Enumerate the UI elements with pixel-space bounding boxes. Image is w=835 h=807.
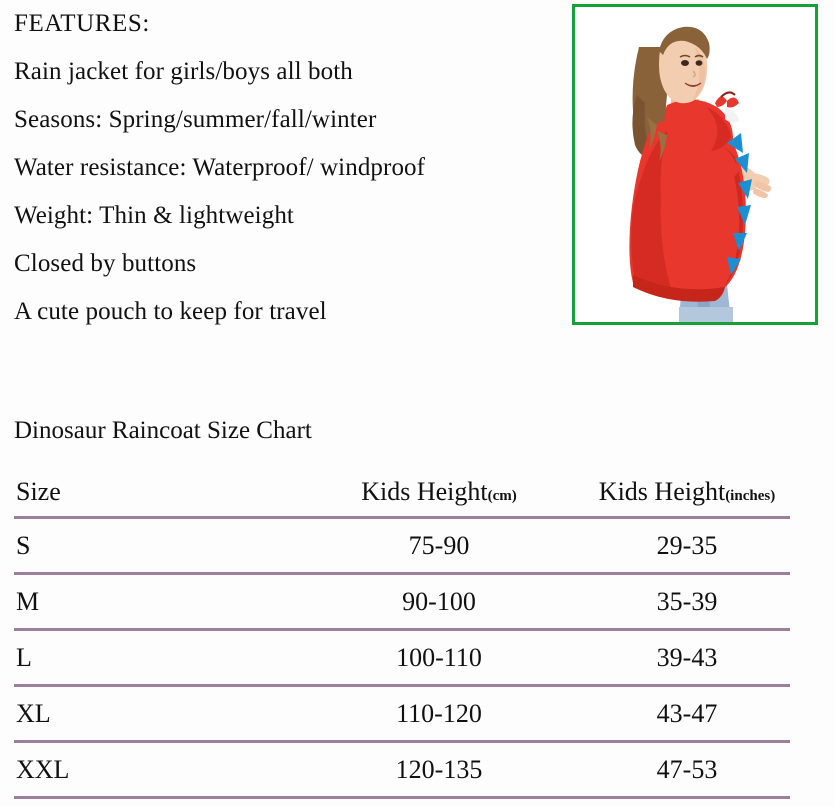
- cell-size: M: [14, 575, 294, 628]
- features-block: FEATURES: Rain jacket for girls/boys all…: [14, 0, 559, 336]
- table-bottom-rule: [14, 796, 790, 799]
- cell-height-inches: 43-47: [584, 687, 790, 740]
- cell-height-inches: 47-53: [584, 743, 790, 796]
- raincoat-model-illustration: [575, 7, 815, 322]
- feature-item-4: Weight: Thin & lightweight: [14, 192, 559, 240]
- feature-item-2: Seasons: Spring/summer/fall/winter: [14, 96, 559, 144]
- cell-height-inches: 35-39: [584, 575, 790, 628]
- table-row: L 100-110 39-43: [14, 631, 790, 684]
- table-row: M 90-100 35-39: [14, 575, 790, 628]
- cell-height-inches: 39-43: [584, 631, 790, 684]
- cell-height-cm: 75-90: [294, 519, 584, 572]
- cell-size: XXL: [14, 743, 294, 796]
- table-bottom-rule-cell: [14, 796, 790, 799]
- size-chart-section: Dinosaur Raincoat Size Chart Size Kids H…: [14, 414, 804, 799]
- column-header-size: Size: [14, 468, 294, 516]
- cell-height-inches: 29-35: [584, 519, 790, 572]
- size-chart-table: Size Kids Height(cm) Kids Height(inches)…: [14, 468, 790, 799]
- cell-size: S: [14, 519, 294, 572]
- features-heading: FEATURES:: [14, 0, 559, 48]
- cell-size: XL: [14, 687, 294, 740]
- cell-height-cm: 100-110: [294, 631, 584, 684]
- table-body: S 75-90 29-35 M 90-100 35-39 L 100-110 3…: [14, 519, 790, 799]
- feature-item-5: Closed by buttons: [14, 240, 559, 288]
- product-photo: [572, 4, 818, 325]
- cell-size: L: [14, 631, 294, 684]
- column-header-height-inches-label: Kids Height: [599, 477, 725, 506]
- table-row: XL 110-120 43-47: [14, 687, 790, 740]
- table-row: S 75-90 29-35: [14, 519, 790, 572]
- feature-item-3: Water resistance: Waterproof/ windproof: [14, 144, 559, 192]
- cell-height-cm: 120-135: [294, 743, 584, 796]
- feature-item-1: Rain jacket for girls/boys all both: [14, 48, 559, 96]
- table-row: XXL 120-135 47-53: [14, 743, 790, 796]
- feature-item-6: A cute pouch to keep for travel: [14, 288, 559, 336]
- size-chart-title: Dinosaur Raincoat Size Chart: [14, 414, 804, 448]
- divider-line: [14, 796, 790, 799]
- header-row: Size Kids Height(cm) Kids Height(inches): [14, 468, 790, 516]
- column-header-unit-inches: (inches): [725, 488, 775, 504]
- column-header-height-cm: Kids Height(cm): [294, 468, 584, 516]
- column-header-unit-cm: (cm): [488, 488, 517, 504]
- column-header-height-cm-label: Kids Height: [361, 477, 487, 506]
- column-header-height-inches: Kids Height(inches): [584, 468, 790, 516]
- cell-height-cm: 110-120: [294, 687, 584, 740]
- table-header: Size Kids Height(cm) Kids Height(inches): [14, 468, 790, 519]
- cell-height-cm: 90-100: [294, 575, 584, 628]
- column-header-size-label: Size: [16, 477, 61, 506]
